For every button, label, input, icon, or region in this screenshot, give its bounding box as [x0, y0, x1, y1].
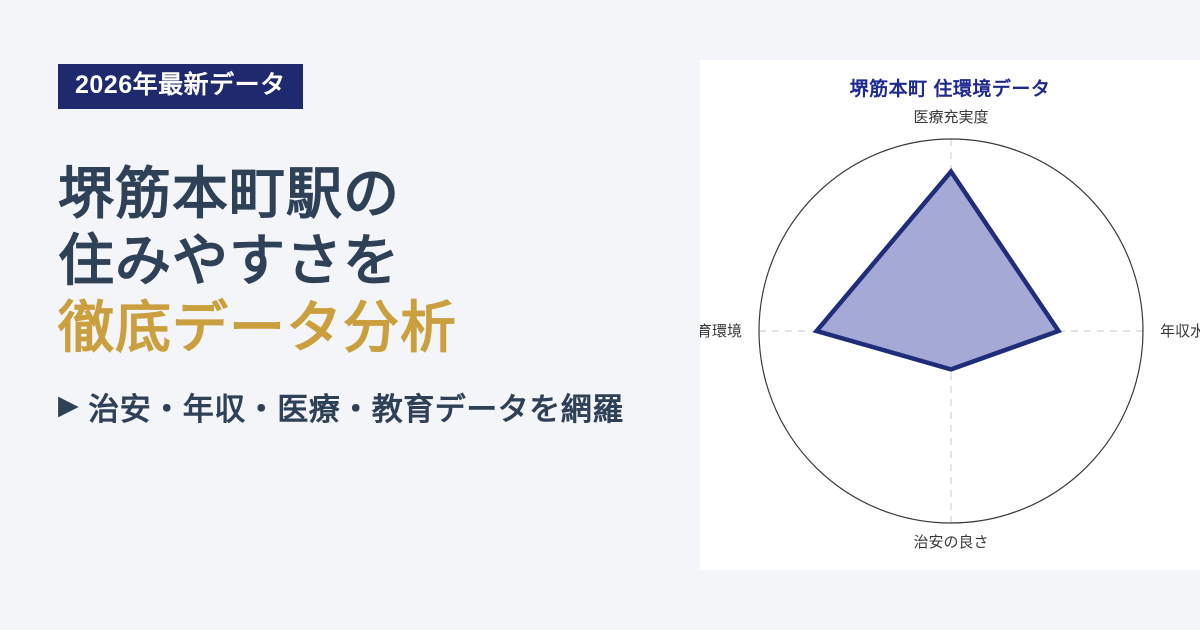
- page-title: 堺筋本町駅の 住みやすさを 徹底データ分析: [58, 160, 698, 362]
- radar-data-polygon: [817, 172, 1059, 370]
- headline-line-3-accent: 徹底データ分析: [58, 294, 698, 361]
- infographic-canvas: 2026年最新データ 堺筋本町駅の 住みやすさを 徹底データ分析 ▶ 治安・年収…: [0, 0, 1200, 630]
- subtitle-text: 治安・年収・医療・教育データを網羅: [88, 384, 624, 429]
- radar-chart: 医療充実度 年収水準 治安の良さ 教育環境: [700, 60, 1200, 570]
- year-badge: 2026年最新データ: [58, 64, 303, 109]
- axis-label-income: 年収水準: [1160, 323, 1200, 340]
- axis-label-medical: 医療充実度: [913, 109, 988, 126]
- triangle-bullet-icon: ▶: [58, 392, 79, 419]
- subtitle: ▶ 治安・年収・医療・教育データを網羅: [58, 384, 698, 429]
- axis-label-education: 教育環境: [700, 322, 742, 340]
- axis-label-safety: 治安の良さ: [913, 534, 988, 551]
- text-column: 2026年最新データ 堺筋本町駅の 住みやすさを 徹底データ分析 ▶ 治安・年収…: [58, 64, 698, 429]
- headline-line-1: 堺筋本町駅の: [58, 160, 698, 227]
- radar-chart-panel: 堺筋本町 住環境データ 医療充実度 年収水準 治安の良さ 教育環境: [700, 60, 1200, 570]
- headline-line-2: 住みやすさを: [58, 227, 698, 294]
